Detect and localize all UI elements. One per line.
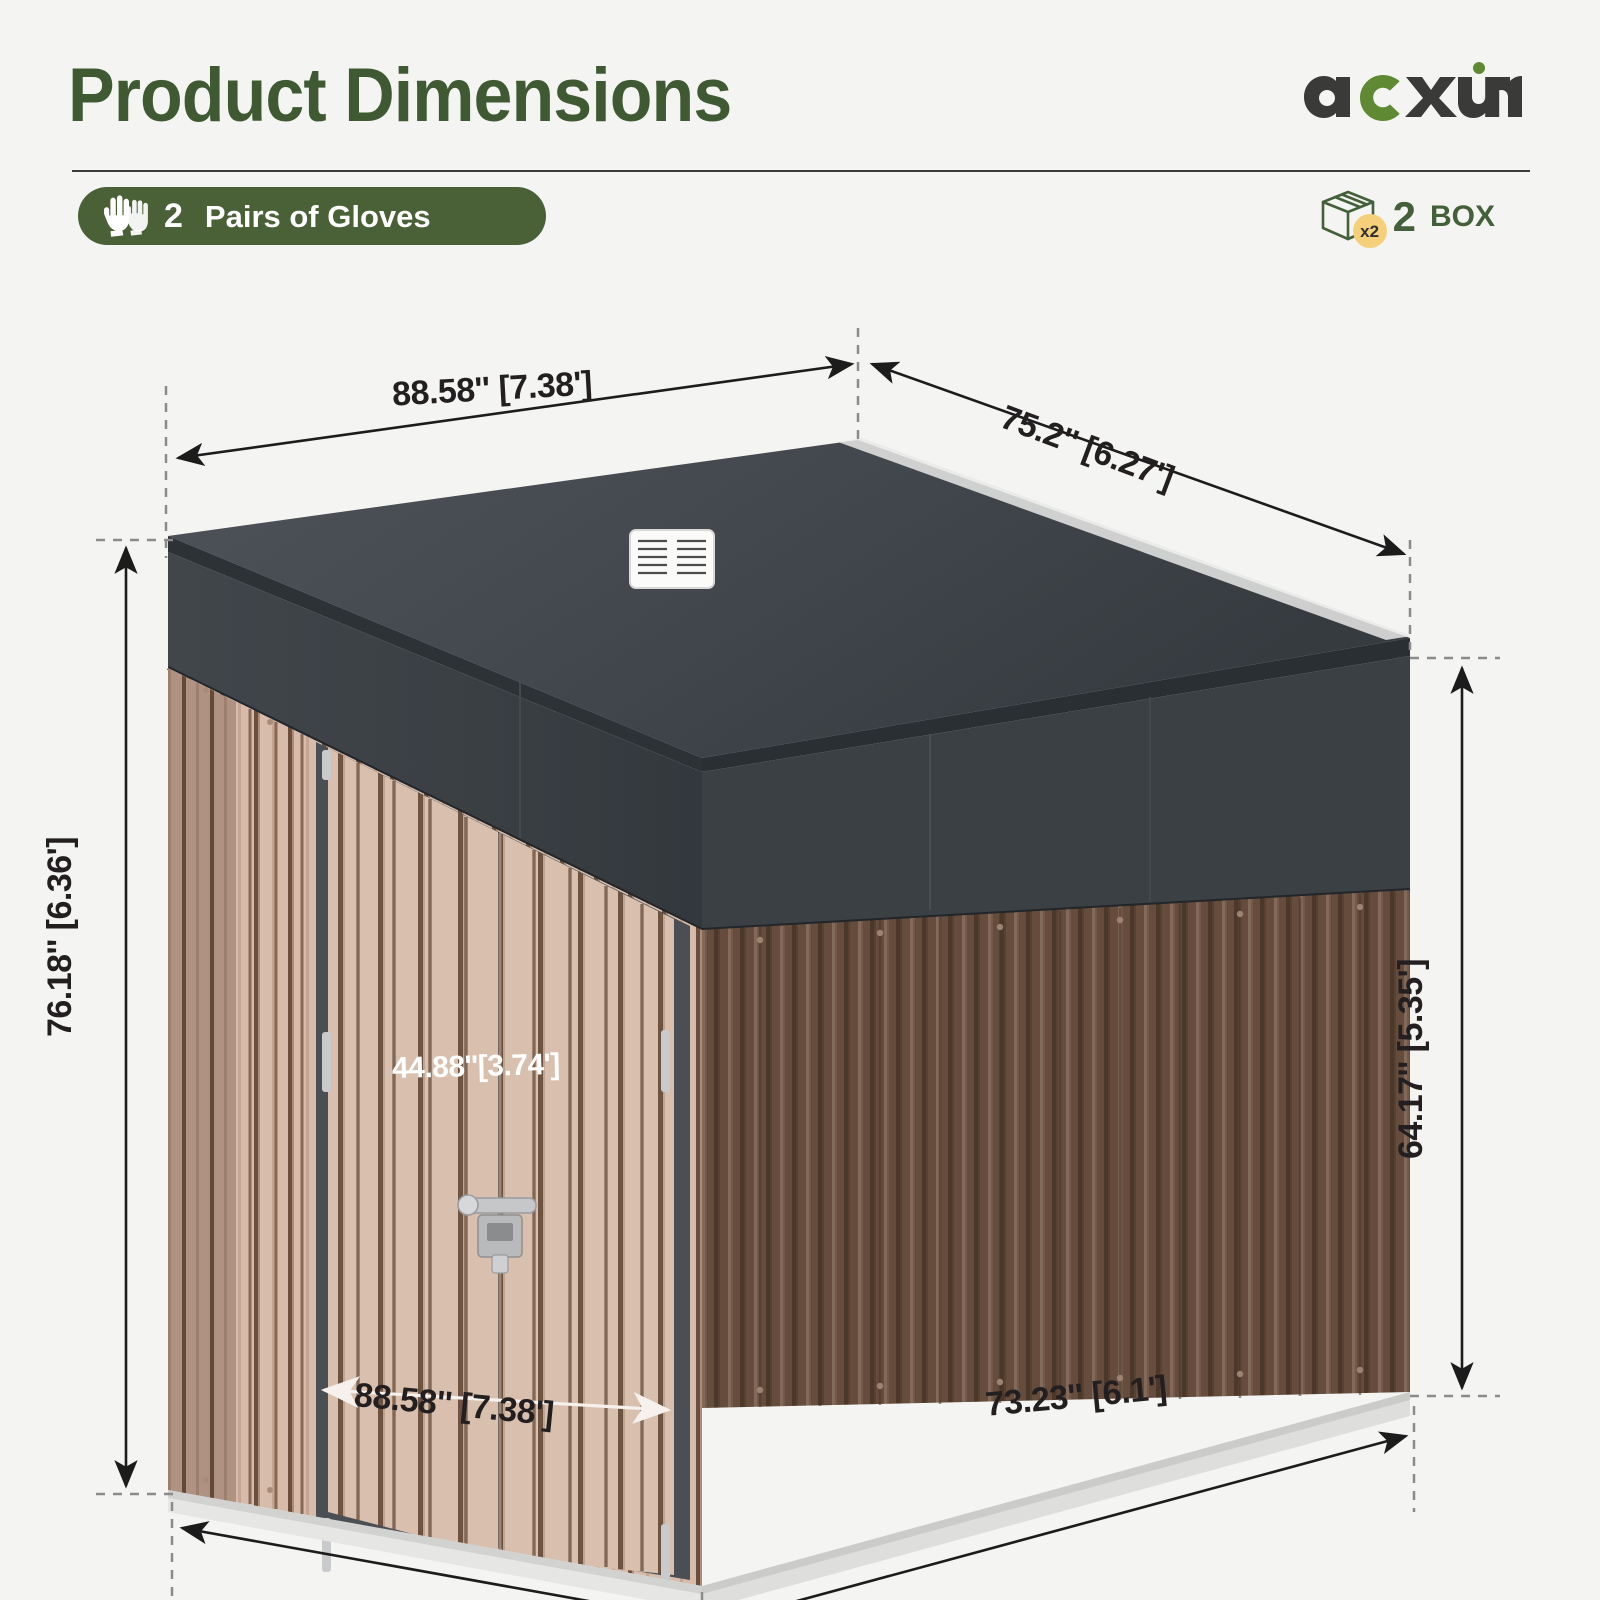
shed-illustration bbox=[0, 290, 1600, 1600]
gloves-icon bbox=[100, 194, 150, 238]
box-multiplier-badge: x2 bbox=[1353, 214, 1387, 248]
box-icon: x2 bbox=[1317, 188, 1381, 246]
gloves-quantity: 2 bbox=[164, 199, 183, 233]
dim-label-door-width: 44.88''[3.74'] bbox=[392, 1050, 561, 1084]
dim-label-right-height: 64.17'' [5.35'] bbox=[1394, 959, 1428, 1159]
door-leaf-left bbox=[328, 748, 498, 1556]
gloves-badge: 2 Pairs of Gloves bbox=[78, 187, 546, 245]
brand-logo bbox=[1290, 62, 1522, 134]
box-unit-label: BOX bbox=[1430, 202, 1495, 232]
vent-right bbox=[630, 530, 714, 588]
header-divider bbox=[72, 170, 1530, 172]
box-count: 2 bbox=[1393, 196, 1416, 238]
dim-label-left-height: 76.18'' [6.36'] bbox=[43, 837, 77, 1037]
shed-body bbox=[168, 438, 1412, 1600]
gloves-label: Pairs of Gloves bbox=[205, 201, 431, 232]
product-dimensions-infographic: Product Dimensions bbox=[0, 0, 1600, 1600]
page-title: Product Dimensions bbox=[68, 58, 731, 134]
box-badge: x2 2 BOX bbox=[1317, 186, 1495, 248]
